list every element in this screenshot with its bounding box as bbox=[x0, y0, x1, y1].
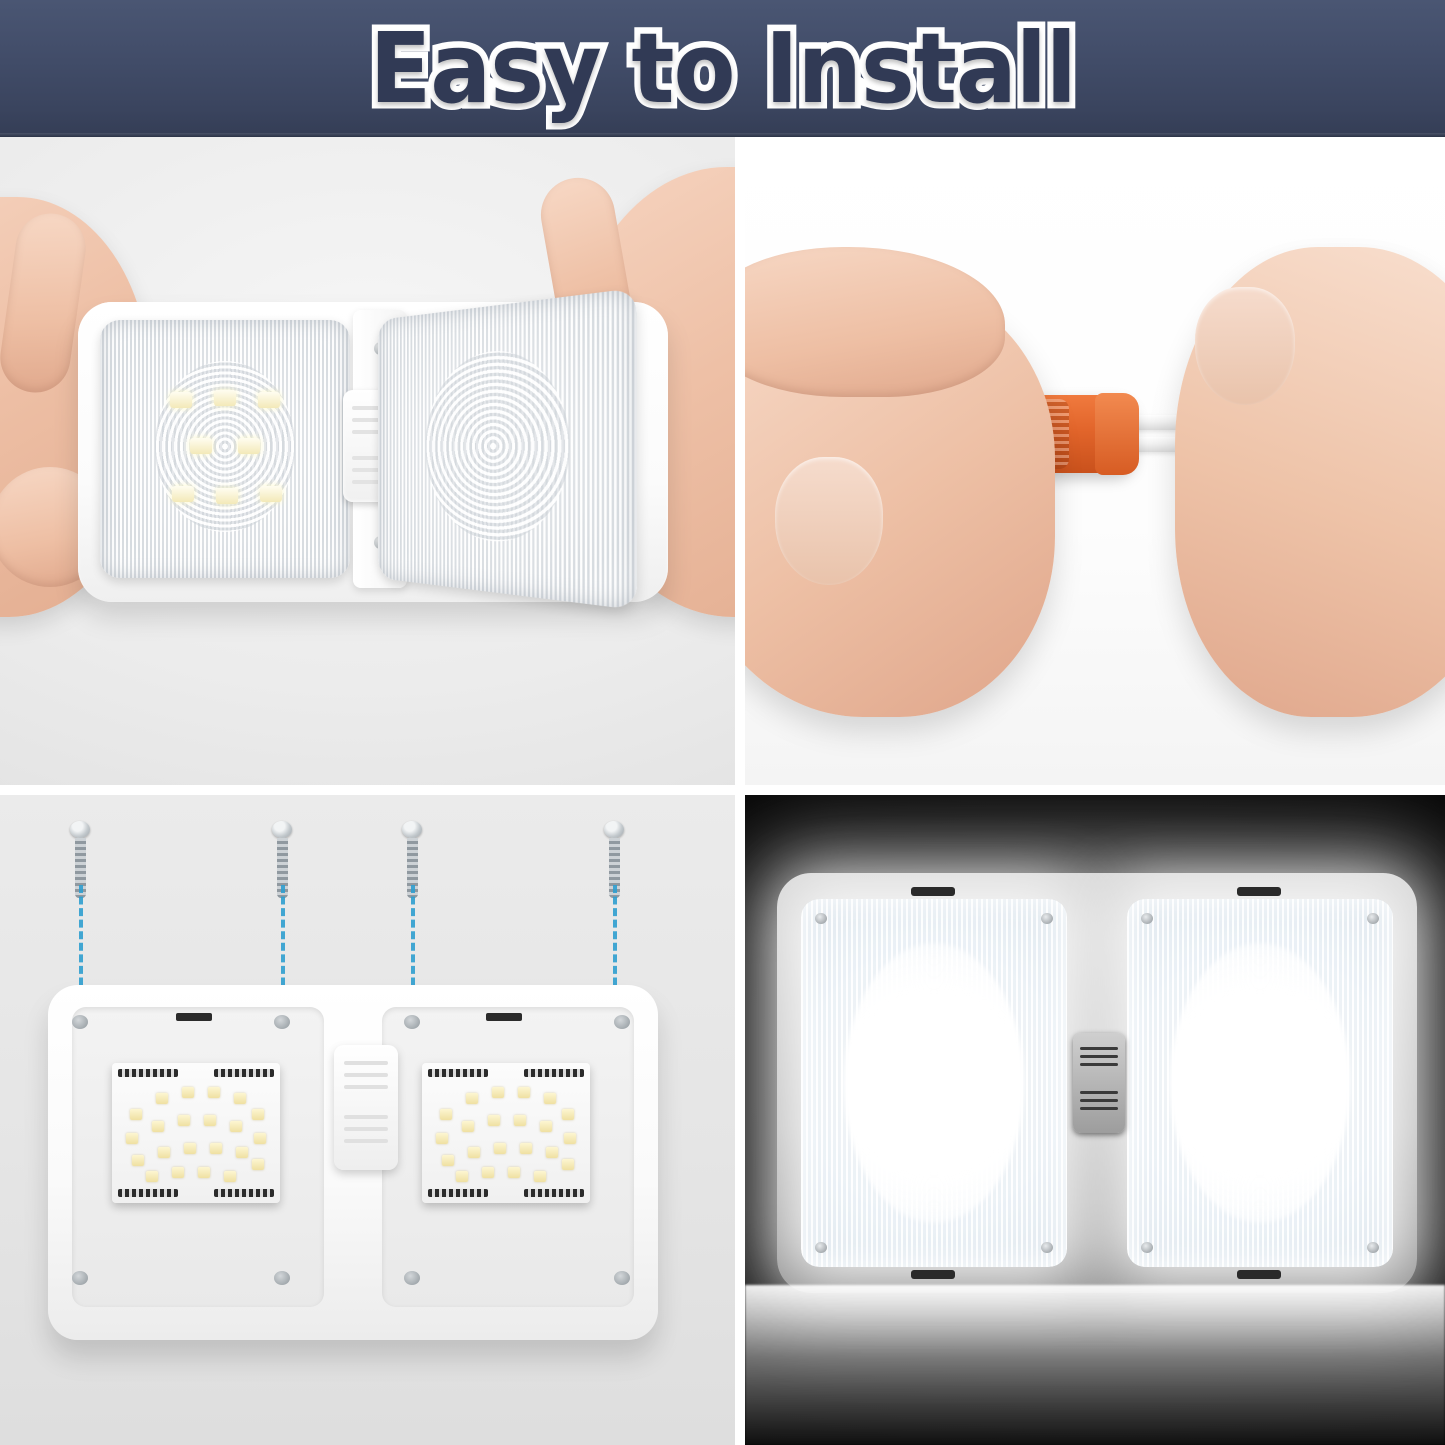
header-banner: Easy to Install bbox=[0, 0, 1445, 137]
left-led-board bbox=[112, 1063, 280, 1203]
screw-path-3 bbox=[411, 885, 415, 997]
assembled-light-fixture bbox=[777, 873, 1417, 1293]
left-lit-lens bbox=[801, 899, 1067, 1267]
left-lens-tab-top bbox=[911, 887, 955, 896]
mounting-hole-4 bbox=[614, 1015, 630, 1029]
step-2-image: Step 2: Wiring bbox=[745, 137, 1445, 785]
right-lit-lens bbox=[1127, 899, 1393, 1267]
step-4-image: Step 4: Close the cover and finish bbox=[745, 795, 1445, 1445]
right-lens-cover-opened[interactable] bbox=[378, 288, 637, 610]
reflective-floor bbox=[745, 1285, 1445, 1445]
mounting-hole-2 bbox=[274, 1015, 290, 1029]
mounting-hole-7 bbox=[404, 1271, 420, 1285]
rocker-switch-assembled[interactable] bbox=[1073, 1033, 1125, 1133]
mounting-hole-1 bbox=[72, 1015, 88, 1029]
screw-path-4 bbox=[613, 885, 617, 997]
step-1-image: Step 1: Open the cover bbox=[0, 137, 735, 785]
screw-path-1 bbox=[79, 885, 83, 997]
right-lens-tab-top bbox=[1237, 887, 1281, 896]
right-lens-tab-bottom bbox=[1237, 1270, 1281, 1279]
left-lens-tab-bottom bbox=[911, 1270, 955, 1279]
rocker-switch-base[interactable] bbox=[334, 1045, 398, 1170]
light-fixture-body bbox=[78, 302, 668, 602]
mounting-hole-5 bbox=[72, 1271, 88, 1285]
mounting-hole-8 bbox=[614, 1271, 630, 1285]
right-led-board bbox=[422, 1063, 590, 1203]
infographic-page: Easy to Install bbox=[0, 0, 1445, 1445]
steps-grid: Step 1: Open the cover Step 2: Wiring bbox=[0, 137, 1445, 1445]
left-lens-cover bbox=[100, 320, 350, 578]
step-3-image: Step 3: Fix with screws bbox=[0, 795, 735, 1445]
mounting-hole-6 bbox=[274, 1271, 290, 1285]
left-thumbnail bbox=[775, 457, 883, 585]
mounting-hole-3 bbox=[404, 1015, 420, 1029]
light-base-plate bbox=[48, 985, 658, 1340]
page-title: Easy to Install bbox=[369, 20, 1075, 117]
screw-path-2 bbox=[281, 885, 285, 997]
right-thumbnail bbox=[1195, 287, 1295, 405]
